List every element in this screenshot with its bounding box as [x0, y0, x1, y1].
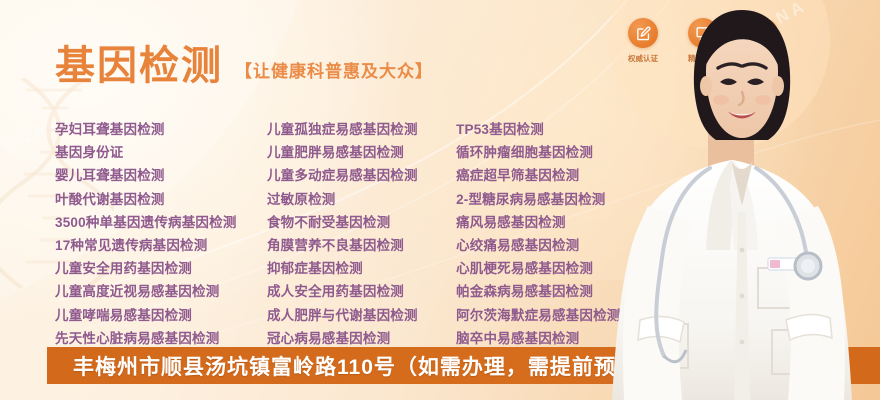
- list-item[interactable]: 儿童孤独症易感基因检测: [267, 118, 456, 141]
- doctor-photo: [590, 0, 880, 400]
- list-item[interactable]: 基因身份证: [55, 141, 267, 164]
- test-column-1: 孕妇耳聋基因检测 基因身份证 婴儿耳聋基因检测 叶酸代谢基因检测 3500种单基…: [55, 118, 267, 350]
- list-item[interactable]: 儿童高度近视易感基因检测: [55, 280, 267, 303]
- list-item[interactable]: 17种常见遗传病基因检测: [55, 234, 267, 257]
- list-item[interactable]: 儿童安全用药基因检测: [55, 257, 267, 280]
- list-item[interactable]: 叶酸代谢基因检测: [55, 188, 267, 211]
- watermark-text-left: DNA: [0, 118, 53, 159]
- list-item[interactable]: 3500种单基因遗传病基因检测: [55, 211, 267, 234]
- list-item[interactable]: 过敏原检测: [267, 188, 456, 211]
- list-item[interactable]: 成人安全用药基因检测: [267, 280, 456, 303]
- test-column-2: 儿童孤独症易感基因检测 儿童肥胖易感基因检测 儿童多动症易感基因检测 过敏原检测…: [267, 118, 456, 350]
- list-item[interactable]: 食物不耐受基因检测: [267, 211, 456, 234]
- page-subtitle: 【让健康科普惠及大众】: [235, 57, 433, 82]
- address-text: 丰梅州市顺县汤坑镇富岭路110号（如需办理，需提前预约）: [73, 351, 660, 381]
- list-item[interactable]: 抑郁症基因检测: [267, 257, 456, 280]
- genetic-testing-poster: DNA DNA 基因检测 【让健康科普惠及大众】 权威认证: [0, 0, 880, 400]
- title-block: 基因检测 【让健康科普惠及大众】: [55, 46, 433, 86]
- list-item[interactable]: 孕妇耳聋基因检测: [55, 118, 267, 141]
- list-item[interactable]: 角膜营养不良基因检测: [267, 234, 456, 257]
- list-item[interactable]: 婴儿耳聋基因检测: [55, 164, 267, 187]
- list-item[interactable]: 儿童哮喘易感基因检测: [55, 304, 267, 327]
- list-item[interactable]: 儿童多动症易感基因检测: [267, 164, 456, 187]
- page-title: 基因检测: [55, 46, 223, 86]
- list-item[interactable]: 儿童肥胖易感基因检测: [267, 141, 456, 164]
- list-item[interactable]: 成人肥胖与代谢基因检测: [267, 304, 456, 327]
